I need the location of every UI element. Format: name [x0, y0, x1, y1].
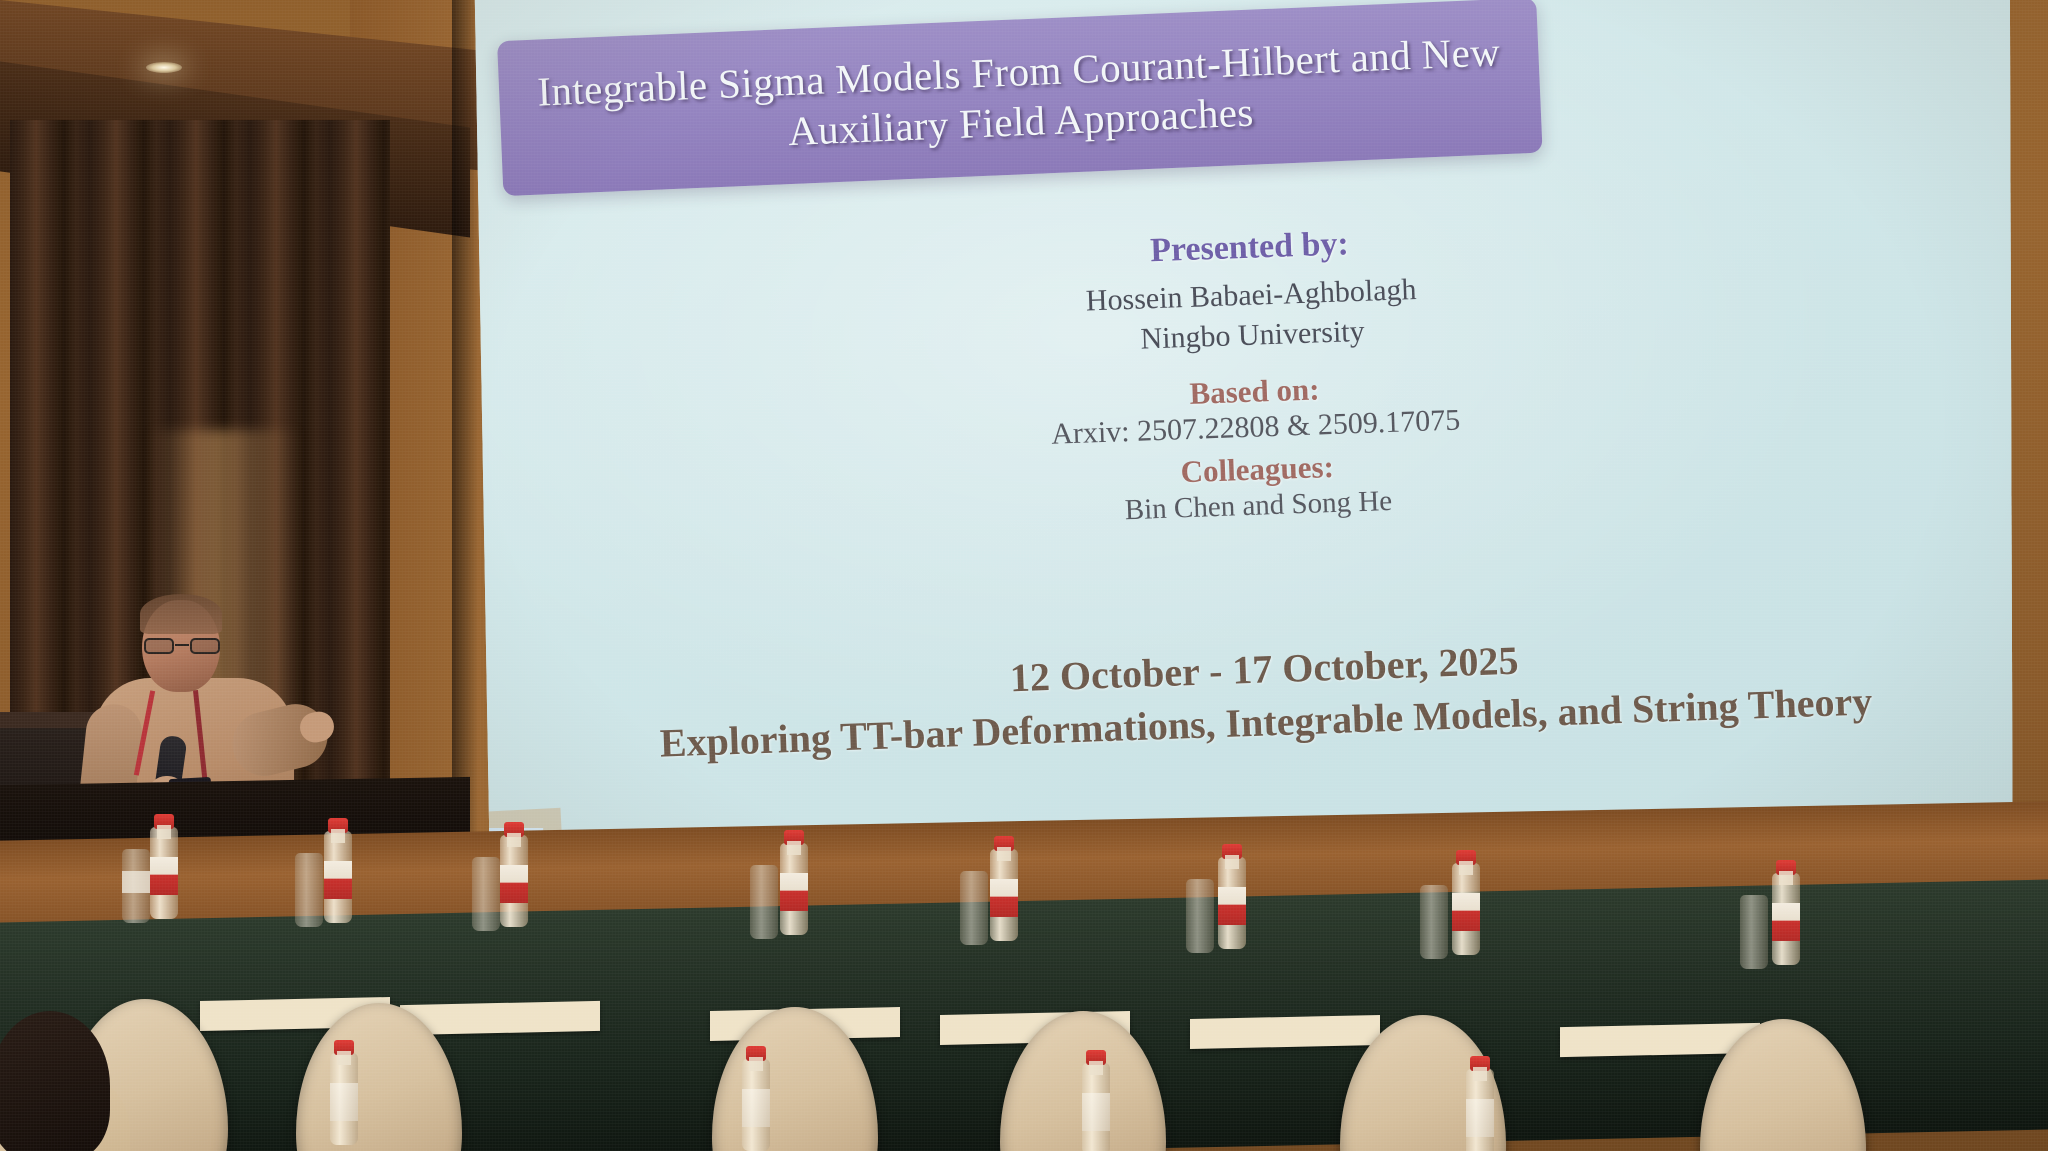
water-bottle [1218, 857, 1246, 949]
table-paper [1190, 1015, 1380, 1049]
drinking-glass [1420, 885, 1448, 959]
water-bottle [742, 1059, 770, 1151]
water-bottle [500, 835, 528, 927]
conference-room-photo: Integrable Sigma Models From Courant-Hil… [0, 0, 2048, 1151]
speaker-hair [140, 594, 222, 634]
water-bottle [1466, 1069, 1494, 1151]
drinking-glass [1186, 879, 1214, 953]
drinking-glass [750, 865, 778, 939]
water-bottle [150, 827, 178, 919]
water-bottle [1772, 873, 1800, 965]
water-bottle [330, 1053, 358, 1145]
water-bottle [1082, 1063, 1110, 1151]
drinking-glass [960, 871, 988, 945]
drinking-glass [1740, 895, 1768, 969]
water-bottle [324, 831, 352, 923]
room-foreground [0, 731, 2048, 1151]
slide-title: Integrable Sigma Models From Courant-Hil… [498, 26, 1541, 168]
ceiling-light-icon [146, 62, 182, 73]
drinking-glass [295, 853, 323, 927]
drinking-glass [472, 857, 500, 931]
glasses-icon [144, 638, 220, 654]
water-bottle [990, 849, 1018, 941]
water-bottle [1452, 863, 1480, 955]
water-bottle [780, 843, 808, 935]
drinking-glass [122, 849, 150, 923]
